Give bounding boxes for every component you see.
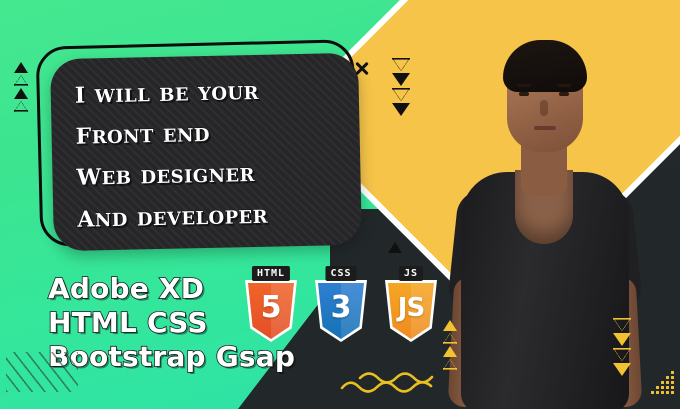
headline-line-3: web designer — [76, 150, 345, 197]
headline-card: I will be your front end web designer an… — [50, 53, 362, 251]
service-line-3: Bootstrap Gsap — [48, 340, 295, 374]
css3-badge-label: CSS — [325, 266, 356, 281]
person-portrait — [455, 22, 635, 409]
tech-badge-row: HTML 5 CSS 3 JS JS — [243, 266, 439, 344]
eyebrow-right — [557, 84, 571, 87]
eye-left — [519, 92, 529, 96]
html5-badge: HTML 5 — [243, 266, 299, 344]
hair — [503, 40, 587, 92]
yellow-dot-stairs-icon — [651, 365, 677, 395]
small-up-triangle-icon — [388, 242, 402, 253]
headline-line-2: front end — [75, 108, 344, 155]
headline-line-4: and developer — [77, 191, 346, 238]
black-tshirt — [461, 172, 629, 409]
up-triangles-yellow-icon — [443, 320, 457, 370]
css3-shield-glyph: 3 — [331, 293, 352, 323]
javascript-badge: JS JS — [383, 266, 439, 344]
x-mark-icon — [354, 60, 370, 76]
javascript-badge-label: JS — [399, 266, 423, 281]
mouth — [534, 126, 556, 130]
diagonal-hatch-lines-icon — [6, 352, 78, 392]
yellow-wavy-lines-icon — [340, 366, 450, 400]
css3-badge: CSS 3 — [313, 266, 369, 344]
headline-line-1: I will be your — [74, 67, 343, 114]
html5-badge-label: HTML — [252, 266, 290, 281]
javascript-shield-glyph: JS — [398, 295, 424, 321]
nose — [540, 100, 548, 116]
up-triangles-black-icon — [14, 62, 28, 112]
eyebrow-left — [517, 84, 531, 87]
html5-shield-glyph: 5 — [261, 293, 282, 323]
down-triangles-black-icon — [392, 58, 410, 116]
gig-thumbnail-poster: I will be your front end web designer an… — [0, 0, 680, 409]
down-triangles-yellow-icon — [613, 318, 631, 376]
eye-right — [559, 92, 569, 96]
page-title: I will be your front end web designer an… — [74, 67, 345, 237]
